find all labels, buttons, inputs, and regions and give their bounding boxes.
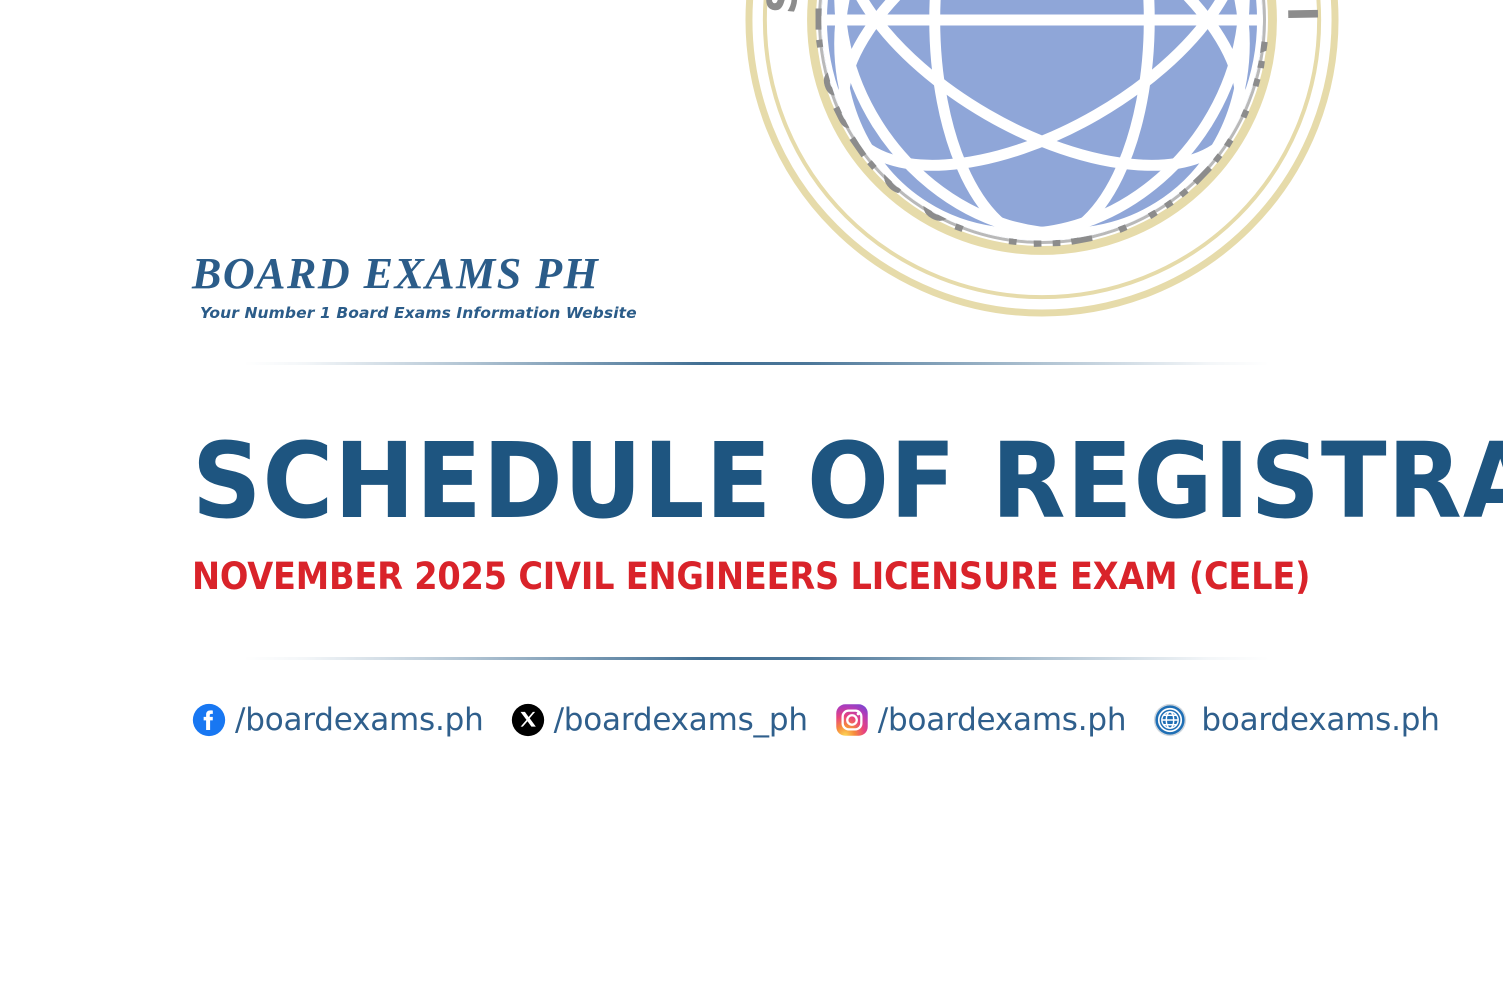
brand-title: BOARD EXAMS PH: [192, 252, 1332, 296]
divider-top: [243, 362, 1270, 365]
svg-text:PROFESSIONAL REGULATION COMMIS: PROFESSIONAL REGULATION COMMISSION: [744, 0, 1327, 26]
instagram-icon: [835, 703, 869, 737]
social-link-x[interactable]: /boardexams_ph: [511, 703, 808, 737]
instagram-handle: /boardexams.ph: [878, 705, 1127, 736]
social-link-instagram[interactable]: /boardexams.ph: [835, 703, 1127, 737]
globe-website-icon: [1153, 703, 1187, 737]
facebook-icon: [192, 703, 226, 737]
social-link-facebook[interactable]: /boardexams.ph: [192, 703, 484, 737]
x-twitter-icon: [511, 703, 545, 737]
brand-logo: BOARD EXAMS PH Your Number 1 Board Exams…: [192, 252, 1332, 322]
social-links-row: /boardexams.ph /boardexams_ph: [192, 698, 1440, 742]
social-link-website[interactable]: boardexams.ph: [1153, 703, 1439, 737]
brand-tagline: Your Number 1 Board Exams Information We…: [200, 304, 1332, 322]
seal-ring-text-top: PROFESSIONAL REGULATION COMMISSION: [744, 0, 1327, 26]
website-handle: boardexams.ph: [1201, 705, 1439, 736]
headline-block: SCHEDULE OF REGISTRATION NOVEMBER 2025 C…: [192, 434, 1332, 595]
x-handle: /boardexams_ph: [554, 705, 808, 736]
svg-text:REPUBLIC OF THE PHILIPPINES: REPUBLIC OF THE PHILIPPINES: [744, 0, 1279, 257]
page-subtitle: NOVEMBER 2025 CIVIL ENGINEERS LICENSURE …: [192, 530, 1326, 596]
facebook-handle: /boardexams.ph: [235, 705, 484, 736]
seal-ring-text-bottom: REPUBLIC OF THE PHILIPPINES: [744, 0, 1279, 257]
page-title: SCHEDULE OF REGISTRATION: [192, 434, 1366, 530]
divider-bottom: [243, 657, 1270, 660]
